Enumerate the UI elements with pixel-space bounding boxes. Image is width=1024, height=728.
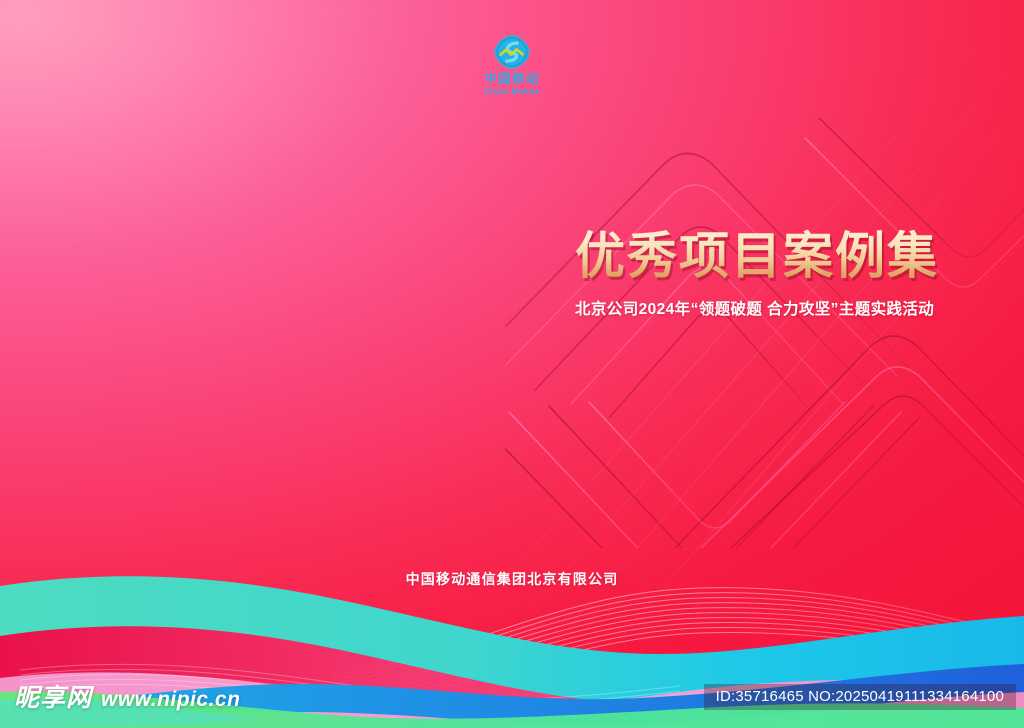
watermark-id-badge: ID:35716465 NO:20250419111334164100 (704, 684, 1016, 710)
title-block: 优秀项目案例集 北京公司2024年“领题破题 合力攻坚”主题实践活动 (575, 228, 995, 319)
page-title: 优秀项目案例集 (575, 228, 995, 284)
logo-name-cn: 中国移动 (485, 73, 540, 87)
chevron-motif (505, 118, 1024, 548)
china-mobile-logo-icon (493, 34, 531, 70)
logo-name-en: China Mobile (484, 87, 540, 97)
background-streaks (0, 0, 1024, 728)
watermark-brand: 昵享网 www.nipic.cn (14, 678, 240, 714)
watermark-site-name: 昵享网 (14, 678, 92, 714)
watermark-site-url: www.nipic.cn (101, 688, 240, 712)
poster-canvas: 中国移动 China Mobile 优秀项目案例集 北京公司2024年“领题破题… (0, 0, 1024, 728)
brand-logo: 中国移动 China Mobile (0, 34, 1024, 97)
page-subtitle: 北京公司2024年“领题破题 合力攻坚”主题实践活动 (575, 297, 995, 319)
company-name: 中国移动通信集团北京有限公司 (0, 569, 1024, 589)
